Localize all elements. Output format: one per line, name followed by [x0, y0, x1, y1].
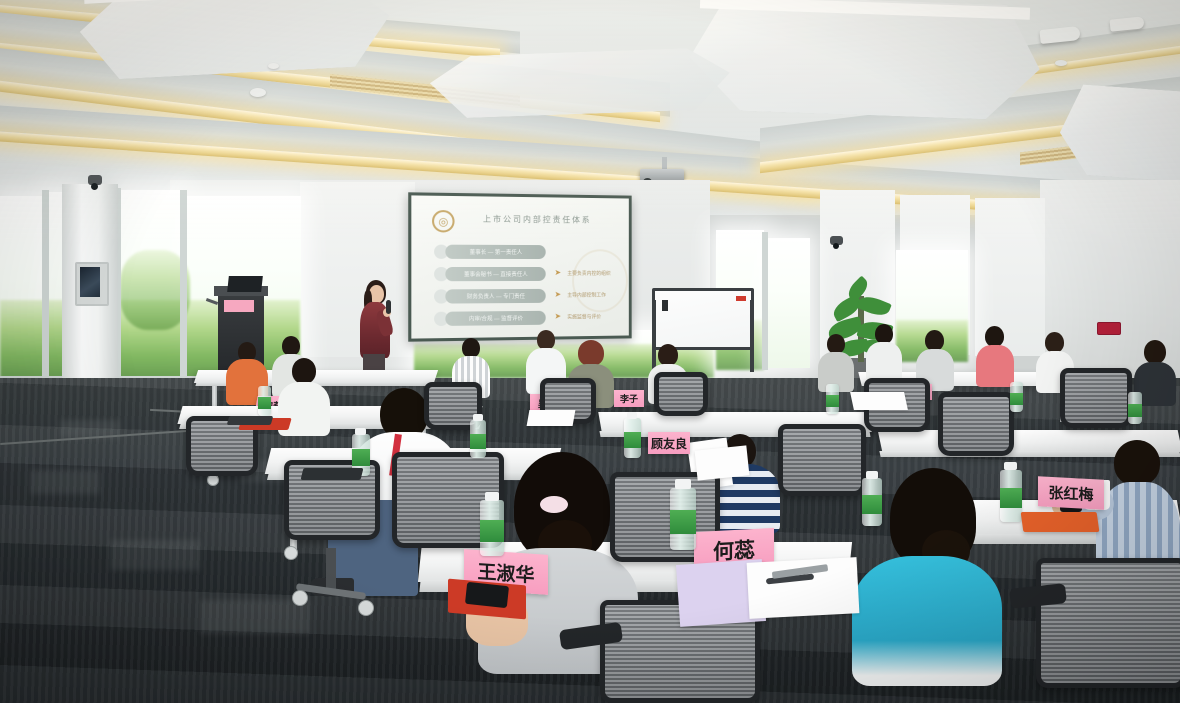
water-bottle-back-2 — [826, 384, 839, 414]
name-card-gu-youliang: 顾友良 — [648, 432, 690, 454]
head — [925, 330, 944, 351]
presenter — [352, 280, 396, 380]
podium-name-card — [224, 300, 254, 312]
emergency-sign — [1097, 322, 1121, 335]
bottle-label — [480, 520, 504, 542]
water-bottle-front-2 — [480, 500, 504, 556]
head — [462, 338, 480, 358]
head — [875, 324, 893, 344]
head — [1144, 340, 1166, 364]
bottle-label — [1010, 393, 1023, 405]
smartphone-on-table[interactable] — [465, 582, 509, 608]
bottle-cap — [485, 492, 499, 501]
slide-title: 上市公司内部控责任体系 — [468, 213, 606, 225]
handout-white-mid — [695, 445, 750, 480]
bottle-cap — [1004, 462, 1017, 470]
torso — [852, 556, 1002, 686]
security-camera-wall-lens — [833, 243, 839, 249]
head — [1045, 332, 1064, 353]
control-panel-screen — [80, 267, 100, 297]
bottle-label — [1128, 404, 1142, 417]
laptop-mid-left — [301, 468, 364, 480]
microphone[interactable] — [386, 300, 391, 314]
carpet-tile-highlight-2 — [110, 540, 200, 570]
bottle-cap — [473, 414, 483, 421]
head — [292, 358, 316, 384]
slide-note-4: 实施监督与评价 — [567, 313, 629, 321]
attendee-right-2 — [866, 324, 902, 380]
water-bottle-back-1 — [258, 386, 271, 416]
whiteboard-clip — [662, 300, 668, 311]
whiteboard-leg-right — [750, 300, 754, 372]
bottle-label — [826, 395, 839, 407]
chair-front-left-post — [326, 548, 336, 592]
smoke-detector-1 — [250, 88, 266, 97]
head — [282, 336, 300, 356]
chair-right-mid-2[interactable] — [1060, 368, 1132, 438]
water-bottle-back-3 — [1128, 392, 1142, 424]
ceiling-hex-panel-back — [429, 47, 731, 119]
chair-back[interactable] — [938, 392, 1014, 456]
slide-bullet-2: 董事会秘书 — 直接责任人 — [445, 267, 545, 281]
name-card-zhang-hongmei: 张红梅 — [1038, 476, 1104, 509]
bottle-cap — [627, 412, 637, 419]
slide-bullet-3: 财务负责人 — 专门责任 — [445, 289, 545, 304]
slide-bullet-1: 董事长 — 第一责任人 — [445, 245, 545, 259]
bottle-label — [1000, 488, 1022, 508]
water-bottle-mid-3 — [470, 420, 486, 458]
projection-screen-frame: ◎ 上市公司内部控责任体系 董事长 — 第一责任人 董事会秘书 — 直接责任人 … — [408, 192, 631, 341]
slide-logo-icon: ◎ — [432, 210, 455, 233]
window-mullion-3 — [180, 190, 187, 385]
notebook-orange — [1021, 512, 1100, 532]
bottle-label — [258, 397, 271, 409]
slide-arrow-3: ➤ — [555, 290, 562, 299]
torso — [866, 342, 902, 382]
chair-back[interactable] — [778, 424, 866, 496]
chair-caster-1 — [292, 590, 308, 606]
slide-arrow-2: ➤ — [555, 268, 562, 277]
window-mullion-1 — [42, 190, 49, 400]
bottle-cap — [355, 428, 366, 435]
bottle-label — [470, 434, 486, 449]
attendee-right-1 — [818, 334, 854, 390]
handout-white-back-2 — [527, 410, 576, 426]
bottle-label — [670, 510, 696, 534]
chair-mid-center[interactable] — [778, 424, 866, 508]
chair-foreground-right[interactable] — [1036, 558, 1180, 703]
window-frame-right — [762, 232, 768, 370]
laptop-back-left — [227, 416, 274, 425]
projection-screen-surface: ◎ 上市公司内部控责任体系 董事长 — 第一责任人 董事会秘书 — 直接责任人 … — [411, 195, 628, 338]
water-bottle-right-1 — [1000, 470, 1022, 522]
head — [578, 340, 604, 366]
bottle-label — [624, 432, 641, 448]
chair-back[interactable] — [1060, 368, 1132, 428]
name-card-back-right: 李子 — [614, 390, 644, 407]
podium-laptop — [227, 276, 263, 292]
hair-clip — [540, 496, 568, 513]
head — [827, 334, 845, 354]
security-camera-column-lens — [91, 183, 98, 190]
water-bottle-back-4 — [1010, 382, 1023, 412]
seminar-room-photo: ◎ 上市公司内部控责任体系 董事长 — 第一责任人 董事会秘书 — 直接责任人 … — [0, 0, 1180, 703]
carpet-tile-highlight-1 — [30, 470, 100, 494]
head — [1114, 440, 1160, 486]
whiteboard-frame — [652, 288, 754, 350]
head — [658, 344, 678, 366]
slide-watermark — [572, 249, 628, 312]
bottle-cap — [675, 479, 691, 489]
head — [537, 330, 555, 350]
bottle-label — [352, 449, 370, 466]
whiteboard-marker[interactable] — [736, 296, 746, 301]
head — [985, 326, 1004, 347]
water-bottle-right-2 — [862, 478, 882, 526]
water-bottle-mid-2 — [624, 418, 641, 458]
slide-arrow-4: ➤ — [555, 312, 562, 321]
slide-bullet-4: 内审/合规 — 监督评价 — [445, 311, 545, 326]
torso — [976, 345, 1014, 387]
carpet-tile-highlight-3 — [200, 600, 310, 634]
handout-white-back — [850, 392, 908, 410]
attendee-right-4 — [976, 326, 1014, 384]
chair-back[interactable] — [1036, 558, 1180, 688]
bottle-cap — [866, 471, 878, 479]
chair-back-row-3[interactable] — [654, 372, 708, 424]
chair-caster-2 — [358, 600, 374, 616]
smoke-detector-3 — [1055, 60, 1067, 66]
bottle-label — [862, 495, 882, 514]
water-bottle-front-1 — [670, 488, 696, 550]
chair-back[interactable] — [654, 372, 708, 416]
window-right-2 — [768, 238, 810, 368]
chair-right-mid[interactable] — [938, 392, 1014, 466]
smoke-detector-2 — [268, 63, 279, 69]
